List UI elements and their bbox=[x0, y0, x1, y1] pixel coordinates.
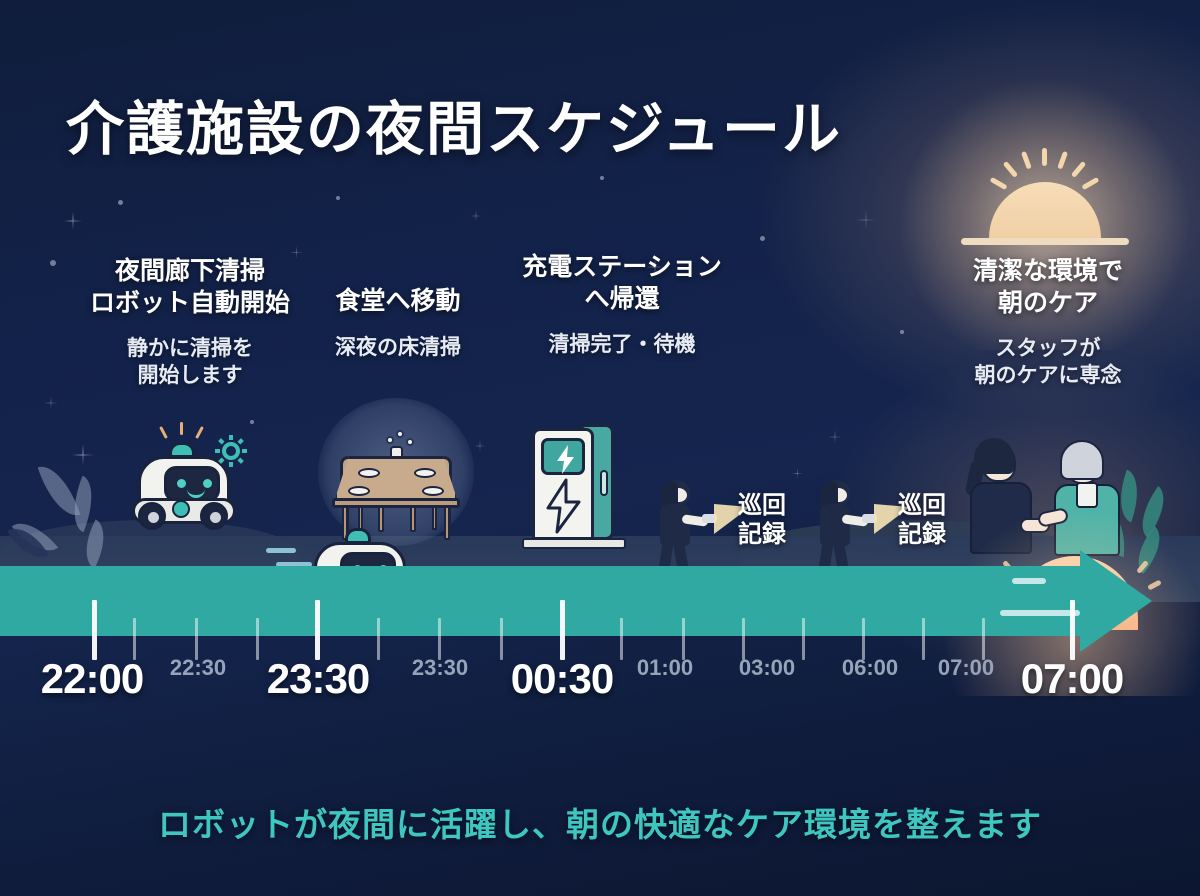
robot-sensor-port bbox=[172, 500, 190, 518]
sparkle-star bbox=[792, 468, 803, 479]
tick-minor bbox=[620, 618, 623, 660]
star-dot bbox=[250, 420, 254, 424]
patrol-figure-2 bbox=[808, 480, 872, 580]
time-label-minor: 03:00 bbox=[739, 655, 795, 681]
tick-minor bbox=[682, 618, 685, 660]
tick-major bbox=[1070, 600, 1075, 660]
milestone-subtitle: 静かに清掃を 開始します bbox=[65, 335, 315, 390]
beacon-ray bbox=[180, 422, 183, 435]
sparkle-star bbox=[44, 396, 58, 410]
plant-left bbox=[10, 452, 130, 562]
milestone-label-3: 充電ステーション へ帰還 清掃完了・待機 bbox=[492, 252, 752, 358]
caregiver-hair bbox=[974, 438, 1014, 474]
sparkle-star bbox=[470, 210, 482, 222]
tick-minor bbox=[922, 618, 925, 660]
time-label-major: 23:30 bbox=[267, 655, 369, 703]
infographic-canvas: 介護施設の夜間スケジュール 夜間廊下清掃 ロボット自動開始 静かに清掃を 開始し… bbox=[0, 0, 1200, 896]
star-dot bbox=[336, 196, 340, 200]
time-label-major: 00:30 bbox=[511, 655, 613, 703]
tick-minor bbox=[982, 618, 985, 660]
robot-wheel bbox=[200, 502, 228, 530]
table-edge bbox=[332, 498, 460, 508]
timeline-dash bbox=[1000, 610, 1080, 616]
sun-horizon-line bbox=[961, 238, 1129, 245]
star-dot bbox=[50, 260, 56, 266]
star-dot bbox=[760, 236, 765, 241]
plate bbox=[358, 468, 380, 478]
time-label-major: 07:00 bbox=[1021, 655, 1123, 703]
sun-ray bbox=[1042, 148, 1047, 166]
time-label-minor: 06:00 bbox=[842, 655, 898, 681]
sparkle-star bbox=[856, 210, 876, 230]
tick-minor bbox=[195, 618, 198, 660]
time-label-minor: 23:30 bbox=[412, 655, 468, 681]
plate bbox=[422, 486, 444, 496]
milestone-title: 充電ステーション へ帰還 bbox=[492, 252, 752, 315]
flower bbox=[386, 436, 394, 444]
milestone-subtitle: スタッフが 朝のケアに専念 bbox=[938, 335, 1158, 390]
charger-cable-slot bbox=[600, 470, 608, 496]
star-dot bbox=[118, 200, 123, 205]
timeline-arrowhead bbox=[1080, 550, 1152, 652]
milestone-title: 清潔な環境で 朝のケア bbox=[938, 256, 1158, 319]
tick-major bbox=[92, 600, 97, 660]
patrol-body bbox=[660, 504, 690, 546]
charger-screen bbox=[541, 438, 585, 475]
milestone-label-4: 清潔な環境で 朝のケア スタッフが 朝のケアに専念 bbox=[938, 256, 1158, 390]
patrol-body bbox=[820, 504, 850, 546]
large-bolt-icon bbox=[540, 478, 586, 534]
star-dot bbox=[600, 176, 604, 180]
plate bbox=[414, 468, 436, 478]
tick-major bbox=[560, 600, 565, 660]
patrol-figure-1 bbox=[648, 480, 712, 580]
time-label-minor: 22:30 bbox=[170, 655, 226, 681]
patrol-label-1: 巡回 記録 bbox=[722, 492, 802, 550]
sparkle-star bbox=[64, 212, 82, 230]
tick-minor bbox=[862, 618, 865, 660]
time-label-minor: 01:00 bbox=[637, 655, 693, 681]
time-label-minor: 07:00 bbox=[938, 655, 994, 681]
timeline-bar bbox=[0, 566, 1095, 636]
plate bbox=[348, 486, 370, 496]
tick-minor bbox=[500, 618, 503, 660]
timeline-band bbox=[0, 566, 1200, 636]
page-title: 介護施設の夜間スケジュール bbox=[66, 82, 842, 166]
tick-minor bbox=[256, 618, 259, 660]
beacon-ray bbox=[195, 426, 204, 439]
gear-icon bbox=[214, 434, 248, 468]
charger-base bbox=[522, 538, 626, 549]
bolt-icon bbox=[544, 441, 588, 478]
milestone-title: 夜間廊下清掃 ロボット自動開始 bbox=[65, 256, 315, 319]
tick-minor bbox=[802, 618, 805, 660]
milestone-subtitle: 清掃完了・待機 bbox=[492, 331, 752, 358]
table-leg bbox=[444, 506, 450, 540]
tick-major bbox=[315, 600, 320, 660]
footer-caption: ロボットが夜間に活躍し、朝の快適なケア環境を整えます bbox=[0, 798, 1200, 846]
robot-eye bbox=[203, 479, 212, 488]
milestone-title: 食堂へ移動 bbox=[288, 286, 508, 318]
robot-smile bbox=[187, 489, 205, 498]
time-label-major: 22:00 bbox=[41, 655, 143, 703]
beacon-ray bbox=[159, 426, 168, 439]
flower bbox=[396, 430, 404, 438]
timeline-dash bbox=[1012, 578, 1046, 584]
elder-hair bbox=[1060, 440, 1104, 480]
charging-station-icon bbox=[520, 418, 630, 553]
sparkle-star bbox=[828, 430, 842, 444]
tick-minor bbox=[133, 618, 136, 660]
sunrise-icon bbox=[955, 140, 1135, 270]
tick-minor bbox=[438, 618, 441, 660]
robot-face-screen bbox=[164, 466, 220, 502]
milestone-label-1: 夜間廊下清掃 ロボット自動開始 静かに清掃を 開始します bbox=[65, 256, 315, 390]
tick-minor bbox=[742, 618, 745, 660]
milestone-subtitle: 深夜の床清掃 bbox=[288, 334, 508, 361]
robot-eye bbox=[177, 479, 186, 488]
robot-wheel bbox=[138, 502, 166, 530]
flower bbox=[406, 438, 414, 446]
tick-minor bbox=[377, 618, 380, 660]
sparkle-star bbox=[474, 440, 486, 452]
milestone-label-2: 食堂へ移動 深夜の床清掃 bbox=[288, 286, 508, 361]
motion-line bbox=[266, 548, 296, 553]
